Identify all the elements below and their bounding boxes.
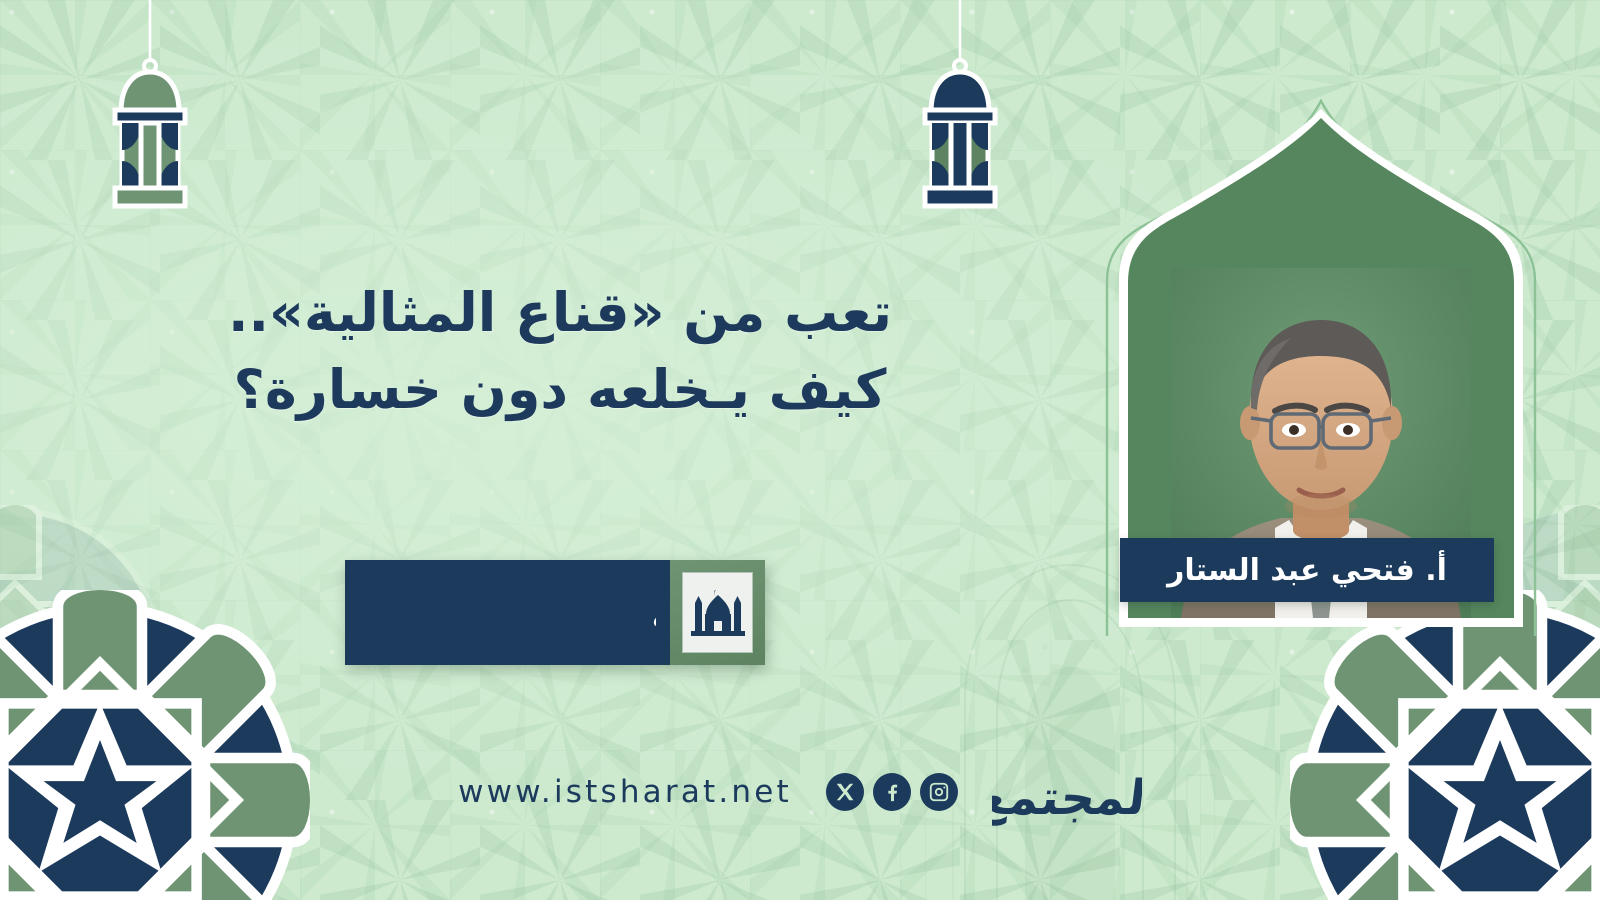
author-name: أ. فتحي عبد الستار (1167, 553, 1447, 588)
facebook-icon[interactable] (873, 773, 911, 811)
headline-line-2: كيف يـخلعه دون خسارة؟ (220, 352, 900, 429)
mosque-icon (691, 587, 745, 639)
headline-line-1: تعب من «قناع المثالية».. (220, 275, 900, 352)
instagram-icon[interactable] (920, 773, 958, 811)
category-badge-icon-frame (670, 560, 765, 665)
category-badge-icon-inner (682, 572, 753, 653)
poster-canvas: بوابة الاستشارات الإلكترونية تعب من «قنا… (0, 0, 1600, 900)
category-badge-text-panel: استشارات إيمانية (345, 560, 670, 665)
website-url[interactable]: www.istsharat.net (458, 774, 792, 810)
hanging-lantern-left-icon (95, 0, 205, 215)
al-mujtama-logo-text: المجتمع (992, 770, 1142, 826)
author-nameplate: أ. فتحي عبد الستار (1120, 538, 1494, 602)
category-badge-label: استشارات إيمانية (650, 591, 656, 637)
hanging-lantern-right-icon (905, 0, 1015, 215)
category-badge-calligraphy: استشارات إيمانية (359, 578, 656, 647)
social-links (826, 773, 958, 811)
footer-bar: المجتمع www. (0, 742, 1600, 842)
headline: تعب من «قناع المثالية».. كيف يـخلعه دون … (220, 275, 900, 428)
site-masthead: بوابة الاستشارات الإلكترونية (190, 58, 910, 218)
al-mujtama-logo: المجتمع (992, 742, 1142, 842)
category-badge[interactable]: استشارات إيمانية (345, 560, 765, 665)
x-twitter-icon[interactable] (826, 773, 864, 811)
